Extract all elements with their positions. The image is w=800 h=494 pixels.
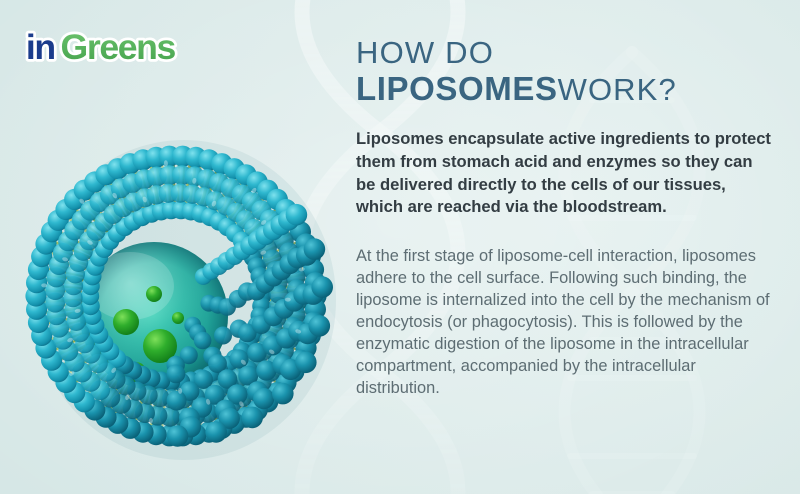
infographic-page: in in Greens Greens HOW DO LIPOSOMESWORK… — [0, 0, 800, 494]
headline-emphasis: LIPOSOMES — [356, 70, 558, 107]
headline-tail: WORK? — [558, 72, 677, 107]
text-column: HOW DO LIPOSOMESWORK? Liposomes encapsul… — [356, 36, 788, 399]
page-title: HOW DO LIPOSOMESWORK? — [356, 36, 788, 108]
svg-text:Greens: Greens — [61, 27, 176, 67]
logo-ingreens[interactable]: in in Greens Greens — [24, 26, 218, 68]
headline-line-1: HOW DO — [356, 36, 788, 69]
lead-paragraph: Liposomes encapsulate active ingredients… — [356, 128, 774, 218]
svg-text:in: in — [26, 27, 55, 67]
body-paragraph: At the first stage of liposome-cell inte… — [356, 245, 776, 399]
headline-line-2: LIPOSOMESWORK? — [356, 71, 788, 108]
